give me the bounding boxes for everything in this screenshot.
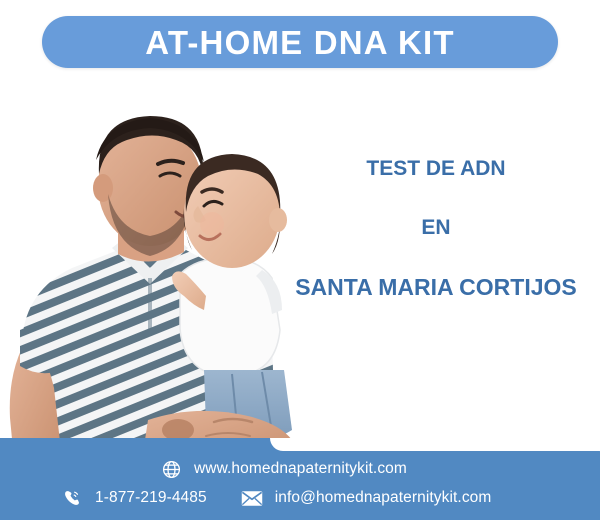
family-photo-illustration: [0, 78, 320, 460]
page-title: AT-HOME DNA KIT: [145, 26, 454, 59]
footer-notch: [270, 438, 600, 451]
promo-line-location: SANTA MARIA CORTIJOS: [276, 276, 596, 299]
footer-contact-row: 1-877-219-4485 info@homednapaternitykit.…: [60, 487, 491, 509]
footer-website-label: www.homednapaternitykit.com: [194, 460, 407, 478]
phone-icon: [60, 487, 82, 509]
envelope-icon: [241, 487, 263, 509]
footer-email-label: info@homednapaternitykit.com: [275, 489, 492, 507]
family-photo: [0, 78, 320, 460]
globe-icon: [160, 458, 182, 480]
footer-email[interactable]: info@homednapaternitykit.com: [241, 487, 492, 509]
footer-phone[interactable]: 1-877-219-4485: [60, 487, 207, 509]
footer-phone-label: 1-877-219-4485: [95, 489, 207, 507]
header-pill: AT-HOME DNA KIT: [42, 16, 558, 68]
promo-line-service: TEST DE ADN: [276, 158, 596, 179]
footer-website[interactable]: www.homednapaternitykit.com: [160, 458, 407, 480]
promo-text-block: TEST DE ADN EN SANTA MARIA CORTIJOS: [276, 158, 596, 299]
promo-line-connector: EN: [276, 217, 596, 238]
poster-canvas: AT-HOME DNA KIT: [0, 0, 600, 520]
footer-website-row: www.homednapaternitykit.com: [160, 458, 407, 480]
